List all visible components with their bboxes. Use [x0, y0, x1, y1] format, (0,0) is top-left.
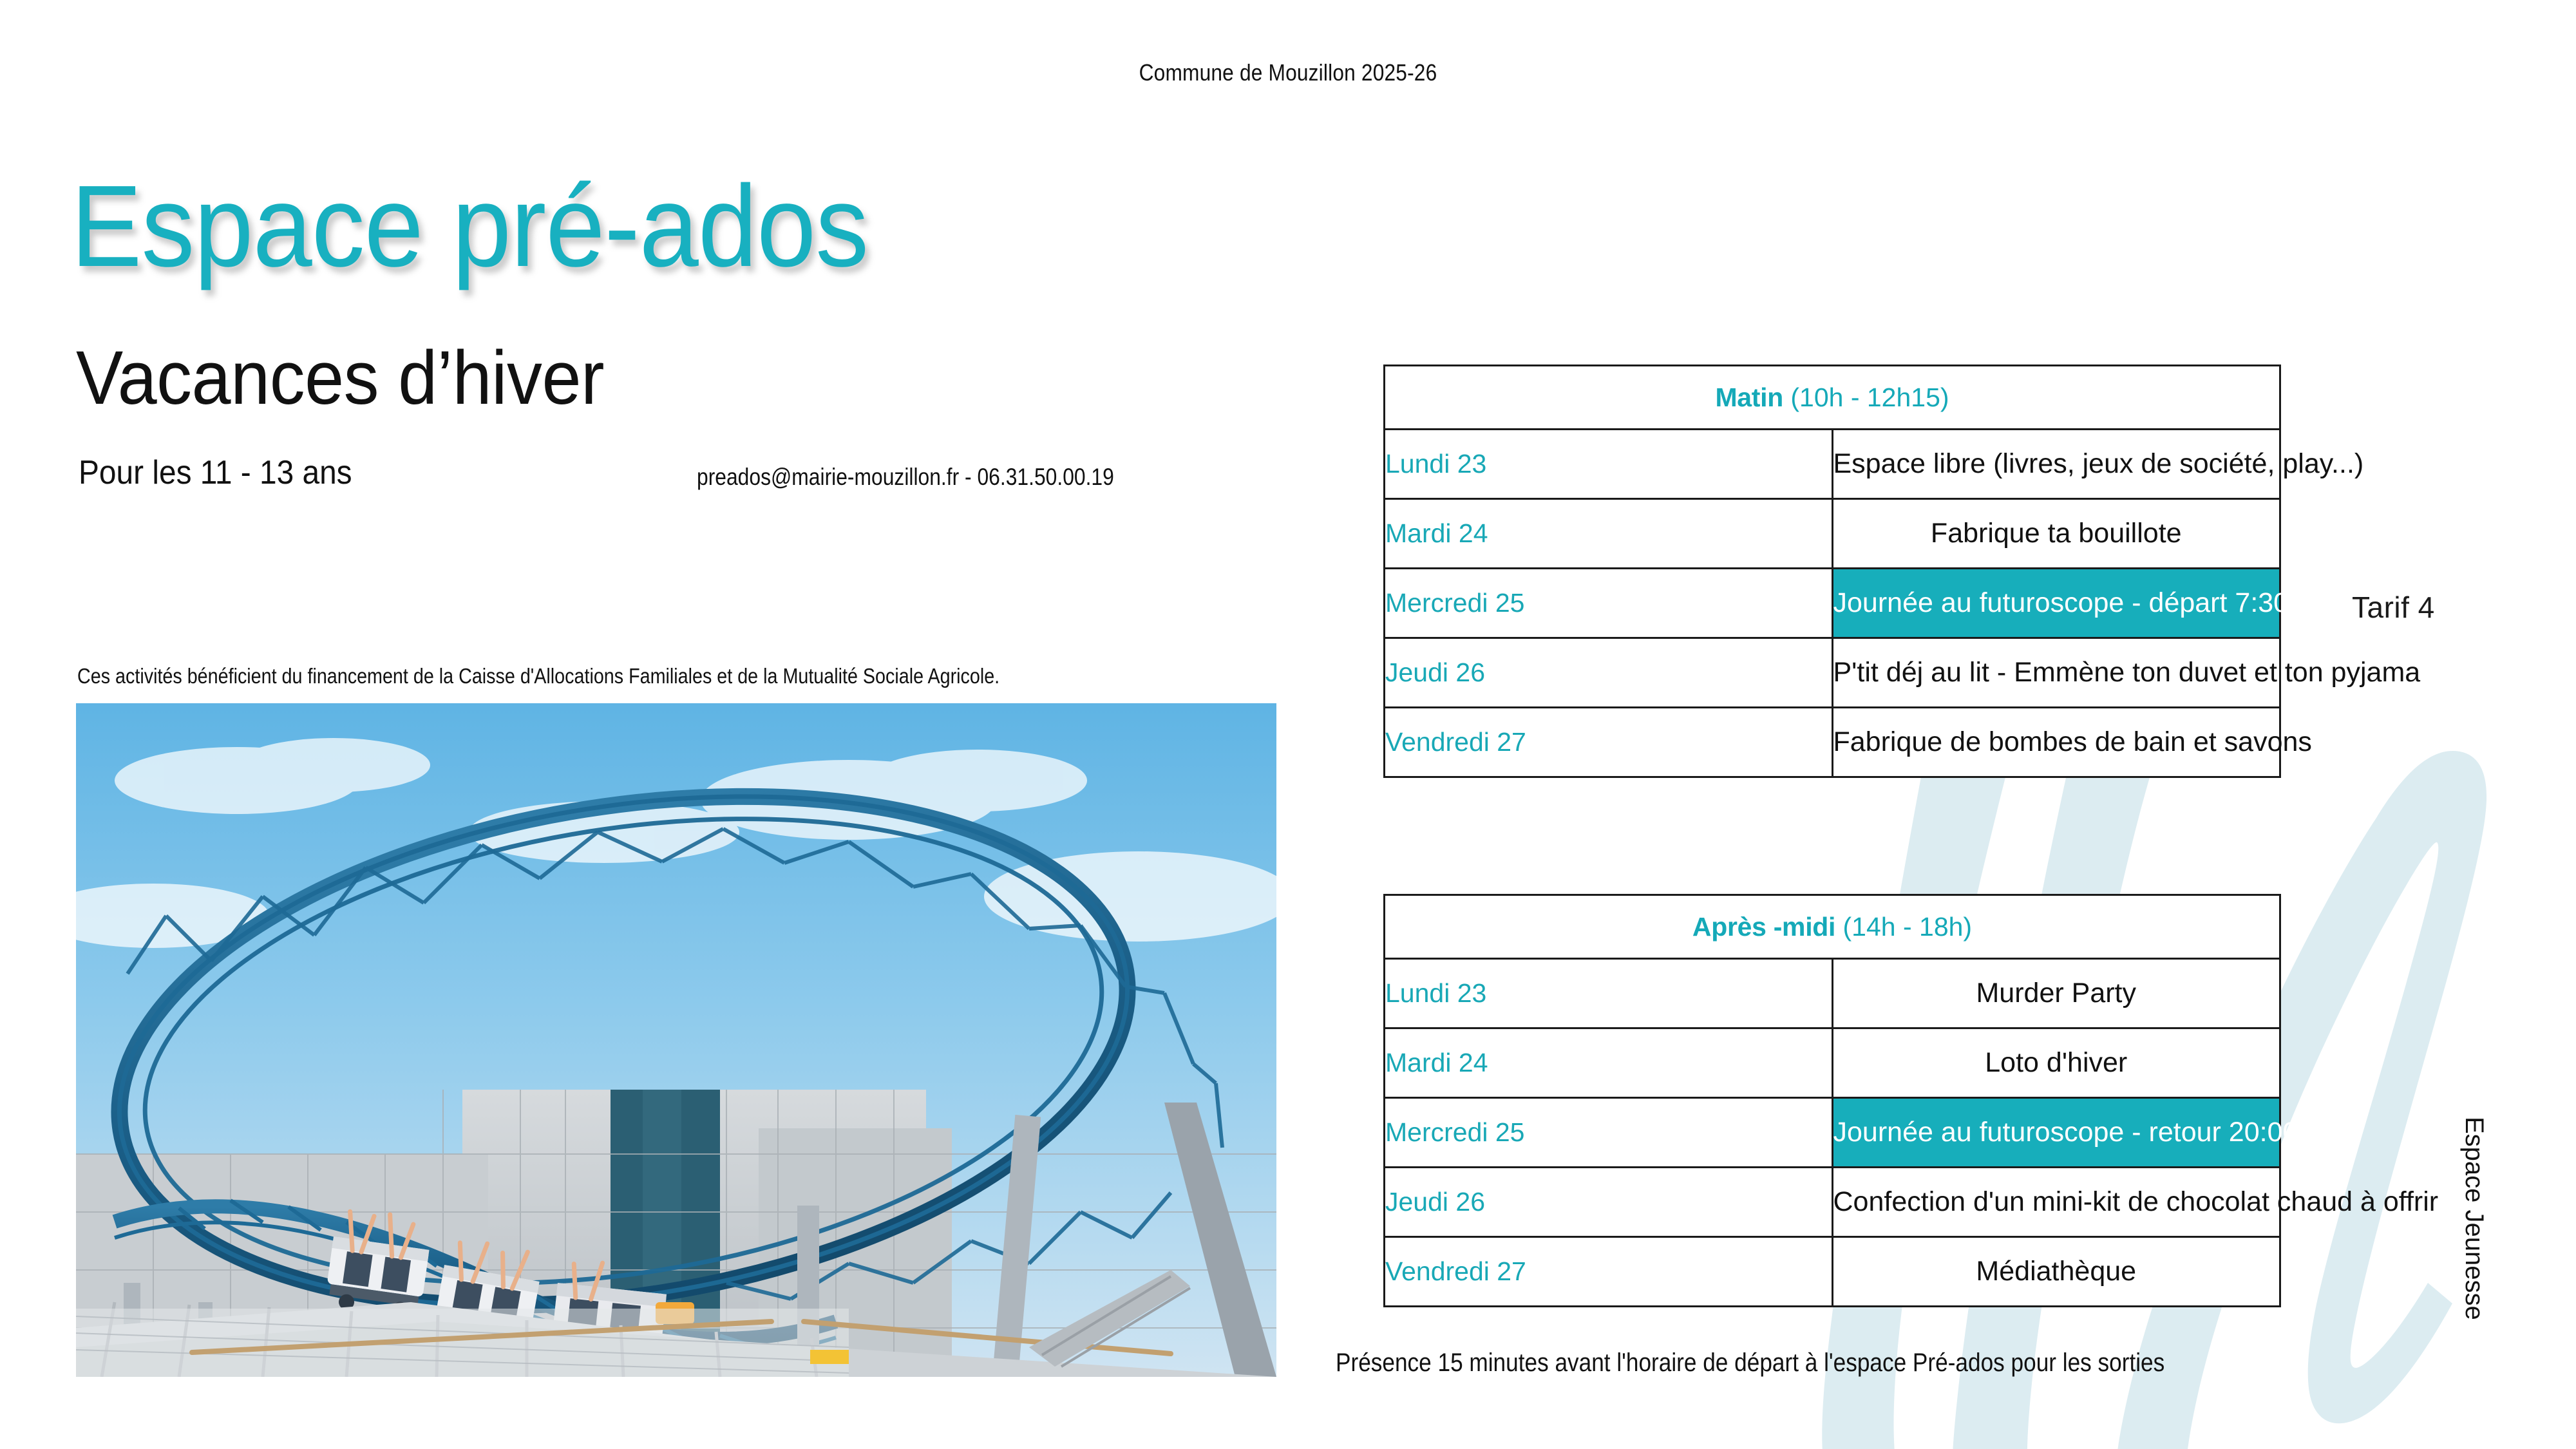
activity-label: Médiathèque [1832, 1237, 2280, 1307]
table-row: Mardi 24 Loto d'hiver [1385, 1028, 2280, 1098]
poster-page: Commune de Mouzillon 2025-26 Espace pré-… [0, 0, 2576, 1449]
table-row: Vendredi 27 Fabrique de bombes de bain e… [1385, 708, 2280, 777]
table-row: Lundi 23 Espace libre (livres, jeux de s… [1385, 430, 2280, 499]
contact-info: preados@mairie-mouzillon.fr - 06.31.50.0… [697, 465, 1114, 489]
table-header-apres-midi: Après -midi (14h - 18h) [1385, 895, 2280, 959]
day-label: Mardi 24 [1385, 499, 1833, 569]
table-row: Jeudi 26 Confection d'un mini-kit de cho… [1385, 1168, 2280, 1237]
activity-label: Loto d'hiver [1832, 1028, 2280, 1098]
header-period-label: Après -midi [1692, 912, 1835, 942]
day-label: Mercredi 25 [1385, 569, 1833, 638]
day-label: Lundi 23 [1385, 959, 1833, 1028]
table-row-highlighted: Mercredi 25 Journée au futuroscope - dép… [1385, 569, 2280, 638]
header-hours-label: (14h - 18h) [1835, 912, 1972, 942]
day-label: Jeudi 26 [1385, 638, 1833, 708]
footer-note: Présence 15 minutes avant l'horaire de d… [1336, 1350, 2164, 1376]
table-header-matin: Matin (10h - 12h15) [1385, 366, 2280, 430]
schedule-table-apres-midi: Après -midi (14h - 18h) Lundi 23 Murder … [1383, 894, 2281, 1307]
schedule-table-matin: Matin (10h - 12h15) Lundi 23 Espace libr… [1383, 365, 2281, 778]
header-period-label: Matin [1715, 383, 1783, 412]
activity-label: Fabrique ta bouillote [1832, 499, 2280, 569]
table-row: Jeudi 26 P'tit déj au lit - Emmène ton d… [1385, 638, 2280, 708]
day-label: Lundi 23 [1385, 430, 1833, 499]
age-range-label: Pour les 11 - 13 ans [79, 456, 352, 489]
activity-label: Fabrique de bombes de bain et savons [1832, 708, 2280, 777]
day-label: Vendredi 27 [1385, 708, 1833, 777]
activity-label: Confection d'un mini-kit de chocolat cha… [1832, 1168, 2280, 1237]
activity-label: P'tit déj au lit - Emmène ton duvet et t… [1832, 638, 2280, 708]
activity-label: Murder Party [1832, 959, 2280, 1028]
activity-label: Journée au futuroscope - retour 20:00 [1832, 1098, 2280, 1168]
day-label: Mardi 24 [1385, 1028, 1833, 1098]
page-subtitle: Vacances d’hiver [76, 340, 604, 416]
day-label: Jeudi 26 [1385, 1168, 1833, 1237]
table-header-row: Matin (10h - 12h15) [1385, 366, 2280, 430]
table-row: Vendredi 27 Médiathèque [1385, 1237, 2280, 1307]
day-label: Mercredi 25 [1385, 1098, 1833, 1168]
commune-header: Commune de Mouzillon 2025-26 [155, 59, 2421, 86]
vertical-brand-label: Espace Jeunesse [2461, 1117, 2487, 1320]
header-hours-label: (10h - 12h15) [1783, 383, 1949, 412]
table-row: Mardi 24 Fabrique ta bouillote [1385, 499, 2280, 569]
page-title: Espace pré-ados [71, 169, 868, 285]
day-label: Vendredi 27 [1385, 1237, 1833, 1307]
activity-label: Journée au futuroscope - départ 7:30 [1832, 569, 2280, 638]
funding-note: Ces activités bénéficient du financement… [77, 665, 999, 687]
tarif-label: Tarif 4 [2352, 592, 2435, 622]
table-header-row: Après -midi (14h - 18h) [1385, 895, 2280, 959]
table-row: Lundi 23 Murder Party [1385, 959, 2280, 1028]
activity-label: Espace libre (livres, jeux de société, p… [1832, 430, 2280, 499]
roller-coaster-photo [76, 703, 1276, 1377]
table-row-highlighted: Mercredi 25 Journée au futuroscope - ret… [1385, 1098, 2280, 1168]
